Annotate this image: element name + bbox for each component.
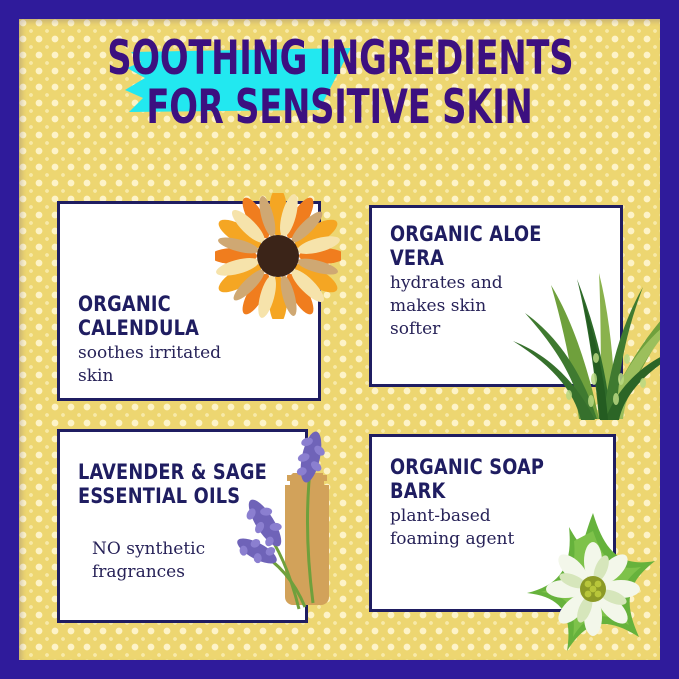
infographic-poster: SOOTHING INGREDIENTS FOR SENSITIVE SKIN … bbox=[0, 0, 679, 679]
card-heading-calendula: ORGANIC CALENDULA bbox=[78, 292, 287, 340]
page-title: SOOTHING INGREDIENTS FOR SENSITIVE SKIN bbox=[19, 33, 660, 134]
ingredient-card-calendula: ORGANIC CALENDULA soothes irritated skin bbox=[57, 201, 321, 401]
polka-dot-background: SOOTHING INGREDIENTS FOR SENSITIVE SKIN … bbox=[19, 19, 660, 660]
ingredient-card-soap-bark: ORGANIC SOAP BARK plant-based foaming ag… bbox=[369, 434, 616, 612]
card-body-lavender-sage: NO synthetic fragrances bbox=[78, 538, 287, 584]
card-heading-soap-bark: ORGANIC SOAP BARK bbox=[390, 455, 583, 503]
page-title-line-1: SOOTHING INGREDIENTS bbox=[83, 33, 596, 85]
card-body-aloe-vera: hydrates and makes skin softer bbox=[390, 272, 602, 341]
card-body-calendula: soothes irritated skin bbox=[78, 342, 300, 388]
card-heading-lavender-sage: LAVENDER & SAGE ESSENTIAL OILS bbox=[78, 460, 274, 508]
card-text-block: ORGANIC SOAP BARK plant-based foaming ag… bbox=[372, 455, 613, 551]
ingredient-card-lavender-sage: LAVENDER & SAGE ESSENTIAL OILS NO synthe… bbox=[57, 429, 308, 623]
card-heading-aloe-vera: ORGANIC ALOE VERA bbox=[390, 222, 589, 270]
card-text-block: ORGANIC CALENDULA soothes irritated skin bbox=[60, 292, 318, 388]
card-text-block: ORGANIC ALOE VERA hydrates and makes ski… bbox=[372, 222, 620, 341]
ingredient-card-aloe-vera: ORGANIC ALOE VERA hydrates and makes ski… bbox=[369, 205, 623, 387]
card-text-block: LAVENDER & SAGE ESSENTIAL OILS NO synthe… bbox=[60, 460, 305, 584]
card-body-soap-bark: plant-based foaming agent bbox=[390, 505, 595, 551]
page-title-line-2: FOR SENSITIVE SKIN bbox=[83, 82, 596, 134]
